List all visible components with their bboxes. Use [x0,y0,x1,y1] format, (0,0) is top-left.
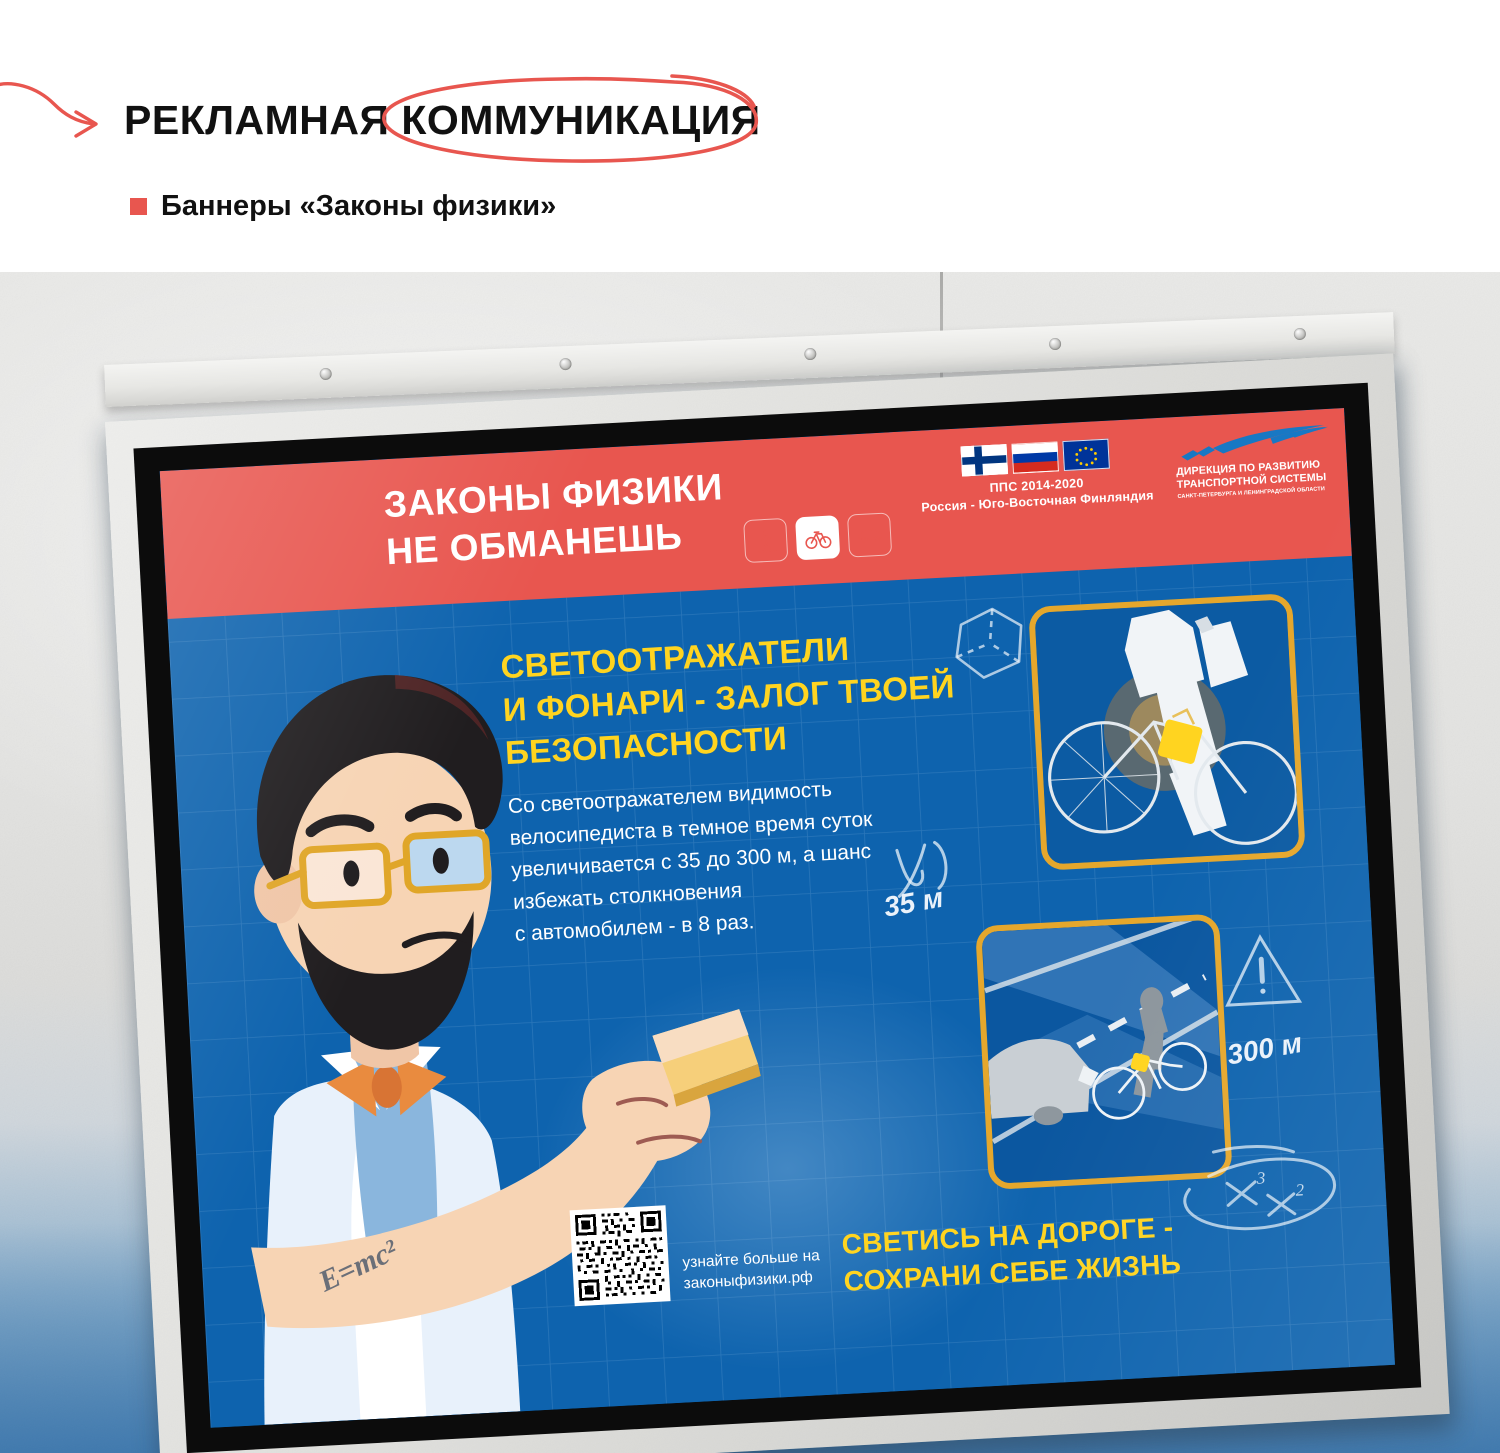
flag-russia-icon [1011,441,1059,473]
rail-screw-icon [1049,338,1061,350]
mode-badges [743,512,892,563]
flag-eu-icon [1062,438,1110,470]
car-icon [855,524,884,545]
qr-code-image[interactable] [570,1205,671,1306]
car-badge[interactable] [847,512,892,557]
billboard-bezel: E=mc² ЗАКОНЫ ФИЗИКИ НЕ ОБМАНЕШЬ [133,383,1421,1453]
qr-block[interactable]: узнайте больше на законыфизики.рф [570,1197,822,1306]
pedestrian-icon [752,527,779,554]
slide-header: РЕКЛАМНАЯ КОММУНИКАЦИЯ Баннеры «Законы ф… [0,0,1500,272]
subtitle-text: Баннеры «Законы физики» [161,190,556,223]
poster-body-text: Со светоотражателем видимость велосипеди… [507,772,878,951]
rail-screw-icon [804,348,816,360]
photo-panel-road-scene[interactable] [975,913,1233,1190]
arrow-doodle-icon [0,78,122,150]
poster-artwork: E=mc² ЗАКОНЫ ФИЗИКИ НЕ ОБМАНЕШЬ [160,408,1395,1428]
billboard-mockup-scene: E=mc² ЗАКОНЫ ФИЗИКИ НЕ ОБМАНЕШЬ [0,272,1500,1453]
billboard-screen[interactable]: E=mc² ЗАКОНЫ ФИЗИКИ НЕ ОБМАНЕШЬ [160,408,1395,1428]
billboard-unit[interactable]: E=mc² ЗАКОНЫ ФИЗИКИ НЕ ОБМАНЕШЬ [105,353,1450,1453]
bicycle-badge[interactable] [795,515,840,560]
poster-title: ЗАКОНЫ ФИЗИКИ НЕ ОБМАНЕШЬ [383,463,727,575]
subtitle-row: Баннеры «Законы физики» [130,190,556,223]
flag-finland-icon [960,444,1008,476]
photo-panel-cyclist-reflector[interactable] [1028,593,1306,871]
rail-screw-icon [1294,328,1306,340]
ellipse-highlight-doodle-icon [374,72,764,168]
rail-screw-icon [319,368,331,380]
bullet-square-icon [130,198,147,215]
rail-screw-icon [559,358,571,370]
bicycle-icon [803,523,832,552]
programme-block: ППС 2014-2020 Россия - Юго-Восточная Фин… [904,434,1167,516]
pedestrian-badge[interactable] [743,518,788,563]
poster-headline: СВЕТООТРАЖАТЕЛИ И ФОНАРИ - ЗАЛОГ ТВОЕЙ Б… [499,621,957,774]
directorate-logo: ДИРЕКЦИЯ ПО РАЗВИТИЮ ТРАНСПОРТНОЙ СИСТЕМ… [1174,423,1337,500]
qr-caption: узнайте больше на законыфизики.рф [682,1245,822,1300]
